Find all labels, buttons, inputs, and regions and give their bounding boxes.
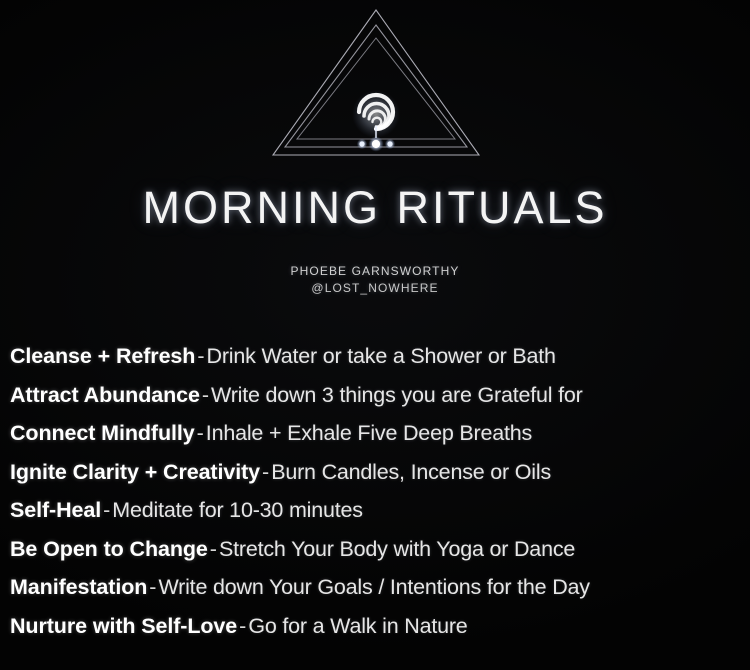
ritual-description: Write down 3 things you are Grateful for xyxy=(211,383,583,407)
ritual-dash: - xyxy=(237,614,248,638)
ritual-label: Cleanse + Refresh xyxy=(10,344,195,368)
ritual-description: Stretch Your Body with Yoga or Dance xyxy=(219,537,575,561)
ritual-dash: - xyxy=(195,344,206,368)
ritual-label: Attract Abundance xyxy=(10,383,200,407)
ritual-description: Meditate for 10-30 minutes xyxy=(112,498,363,522)
ritual-dash: - xyxy=(208,537,219,561)
ritual-label: Self-Heal xyxy=(10,498,101,522)
list-item: Attract Abundance-Write down 3 things yo… xyxy=(10,376,750,415)
list-item: Connect Mindfully-Inhale + Exhale Five D… xyxy=(10,414,750,453)
ritual-label: Nurture with Self-Love xyxy=(10,614,237,638)
author-name: PHOEBE GARNSWORTHY xyxy=(0,263,750,280)
title-block: MORNING RITUALS xyxy=(0,182,750,234)
logo-area xyxy=(0,0,750,172)
ritual-label: Manifestation xyxy=(10,575,147,599)
ritual-description: Inhale + Exhale Five Deep Breaths xyxy=(206,421,532,445)
ritual-label: Connect Mindfully xyxy=(10,421,195,445)
morning-rituals-poster: MORNING RITUALS PHOEBE GARNSWORTHY @LOST… xyxy=(0,0,750,670)
ritual-dash: - xyxy=(101,498,112,522)
list-item: Ignite Clarity + Creativity-Burn Candles… xyxy=(10,453,750,492)
list-item: Manifestation-Write down Your Goals / In… xyxy=(10,568,750,607)
spiral-arcs xyxy=(352,90,400,138)
triple-triangle-spiral-icon xyxy=(265,2,485,172)
list-item: Self-Heal-Meditate for 10-30 minutes xyxy=(10,491,750,530)
ritual-label: Ignite Clarity + Creativity xyxy=(10,460,260,484)
ritual-dash: - xyxy=(200,383,211,407)
ritual-list: Cleanse + Refresh-Drink Water or take a … xyxy=(10,337,750,645)
ritual-label: Be Open to Change xyxy=(10,537,208,561)
list-item: Nurture with Self-Love-Go for a Walk in … xyxy=(10,607,750,646)
ritual-dash: - xyxy=(147,575,158,599)
page-title: MORNING RITUALS xyxy=(0,182,750,234)
ritual-description: Go for a Walk in Nature xyxy=(248,614,467,638)
list-item: Be Open to Change-Stretch Your Body with… xyxy=(10,530,750,569)
ritual-dash: - xyxy=(260,460,271,484)
ritual-description: Write down Your Goals / Intentions for t… xyxy=(158,575,589,599)
social-handle: @LOST_NOWHERE xyxy=(0,280,750,297)
ritual-description: Burn Candles, Incense or Oils xyxy=(271,460,551,484)
ritual-description: Drink Water or take a Shower or Bath xyxy=(207,344,556,368)
list-item: Cleanse + Refresh-Drink Water or take a … xyxy=(10,337,750,376)
ritual-dash: - xyxy=(195,421,206,445)
byline-block: PHOEBE GARNSWORTHY @LOST_NOWHERE xyxy=(0,263,750,297)
